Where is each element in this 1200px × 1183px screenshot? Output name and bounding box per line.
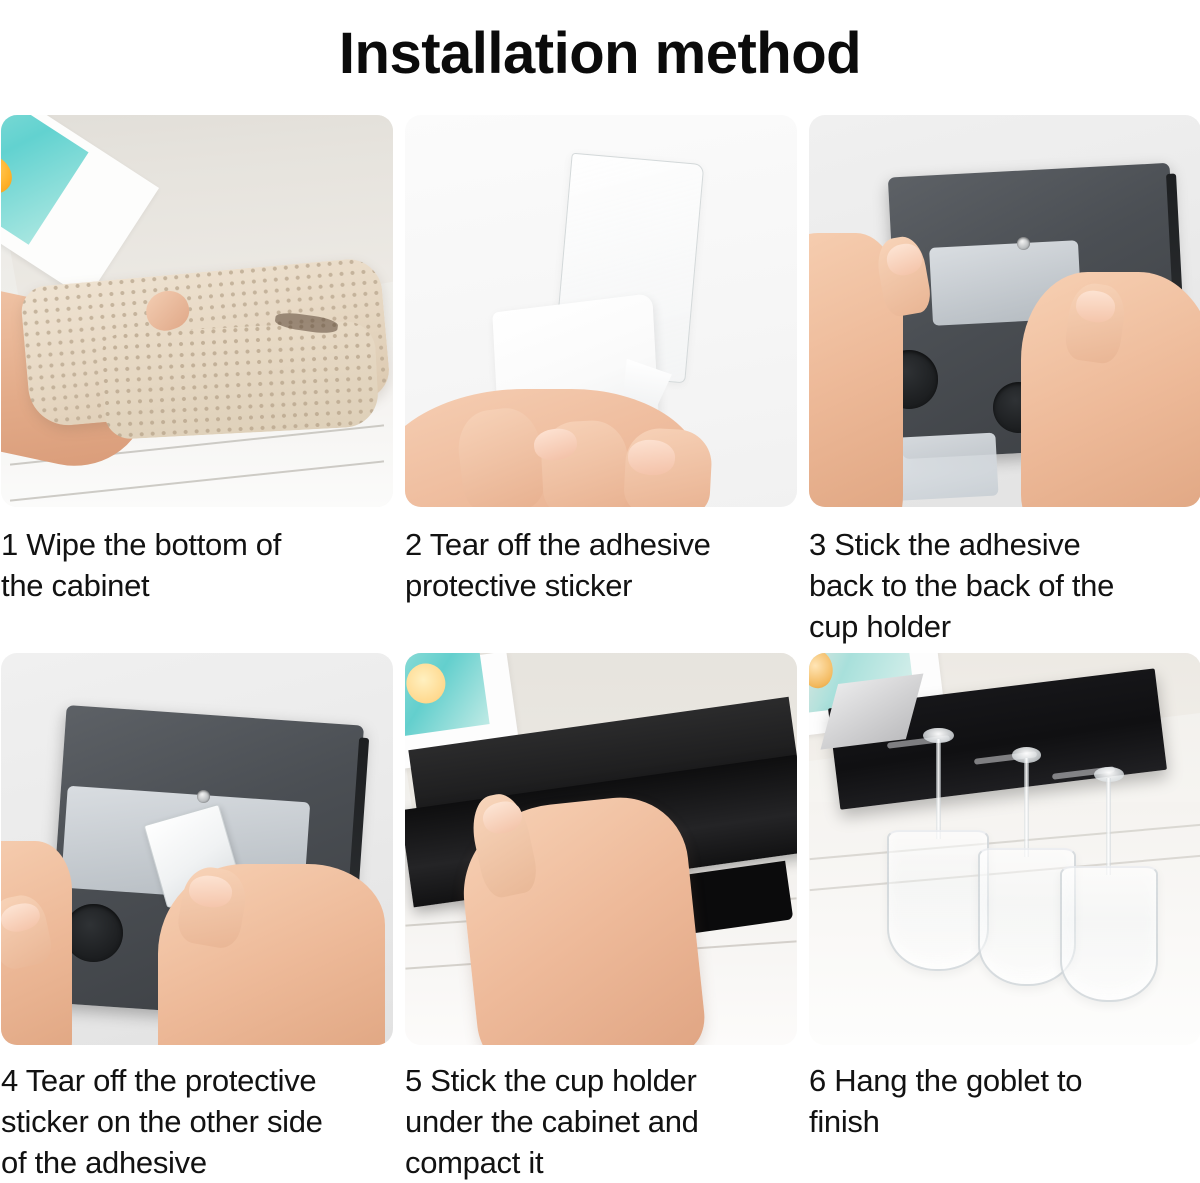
- photo-stick-adhesive-to-holder: [809, 115, 1200, 507]
- goblet-bowl: [1060, 866, 1158, 1002]
- step-card-6: 6 Hang the goblet to finish: [809, 653, 1200, 1183]
- wine-goblet: [887, 739, 989, 966]
- photo-peel-second-sticker: [1, 653, 393, 1045]
- step-card-4: 4 Tear off the protective sticker on the…: [1, 653, 393, 1183]
- goblet-stem: [936, 739, 941, 839]
- teal-package-icon: [405, 653, 490, 737]
- screw-hole: [1017, 237, 1030, 250]
- photo-wipe-cabinet: [1, 115, 393, 507]
- wine-goblet: [1060, 778, 1158, 998]
- steps-grid: 1 Wipe the bottom of the cabinet 2 Tear …: [0, 115, 1200, 1183]
- installation-infographic: Installation method 1 Wipe the bottom of…: [0, 0, 1200, 1183]
- circular-cutout: [64, 904, 123, 963]
- step-card-1: 1 Wipe the bottom of the cabinet: [1, 115, 393, 648]
- photo-hanging-goblets: [809, 653, 1200, 1045]
- step-caption-3: 3 Stick the adhesive back to the back of…: [809, 524, 1200, 648]
- step-caption-2: 2 Tear off the adhesive protective stick…: [405, 524, 797, 606]
- page-title: Installation method: [0, 20, 1200, 87]
- step-caption-4: 4 Tear off the protective sticker on the…: [1, 1060, 393, 1183]
- goblet-stem: [1106, 778, 1111, 875]
- photo-peel-adhesive-film: [405, 115, 797, 507]
- goblet-bowl: [887, 830, 989, 971]
- step-caption-5: 5 Stick the cup holder under the cabinet…: [405, 1060, 797, 1183]
- step-caption-1: 1 Wipe the bottom of the cabinet: [1, 524, 393, 606]
- step-caption-6: 6 Hang the goblet to finish: [809, 1060, 1200, 1142]
- mesh-cloth-fold: [100, 320, 380, 440]
- goblet-stem: [1024, 758, 1029, 856]
- screw-hole: [197, 790, 210, 803]
- step-card-3: 3 Stick the adhesive back to the back of…: [809, 115, 1200, 648]
- photo-press-holder-under-cabinet: [405, 653, 797, 1045]
- step-card-5: 5 Stick the cup holder under the cabinet…: [405, 653, 797, 1183]
- step-card-2: 2 Tear off the adhesive protective stick…: [405, 115, 797, 648]
